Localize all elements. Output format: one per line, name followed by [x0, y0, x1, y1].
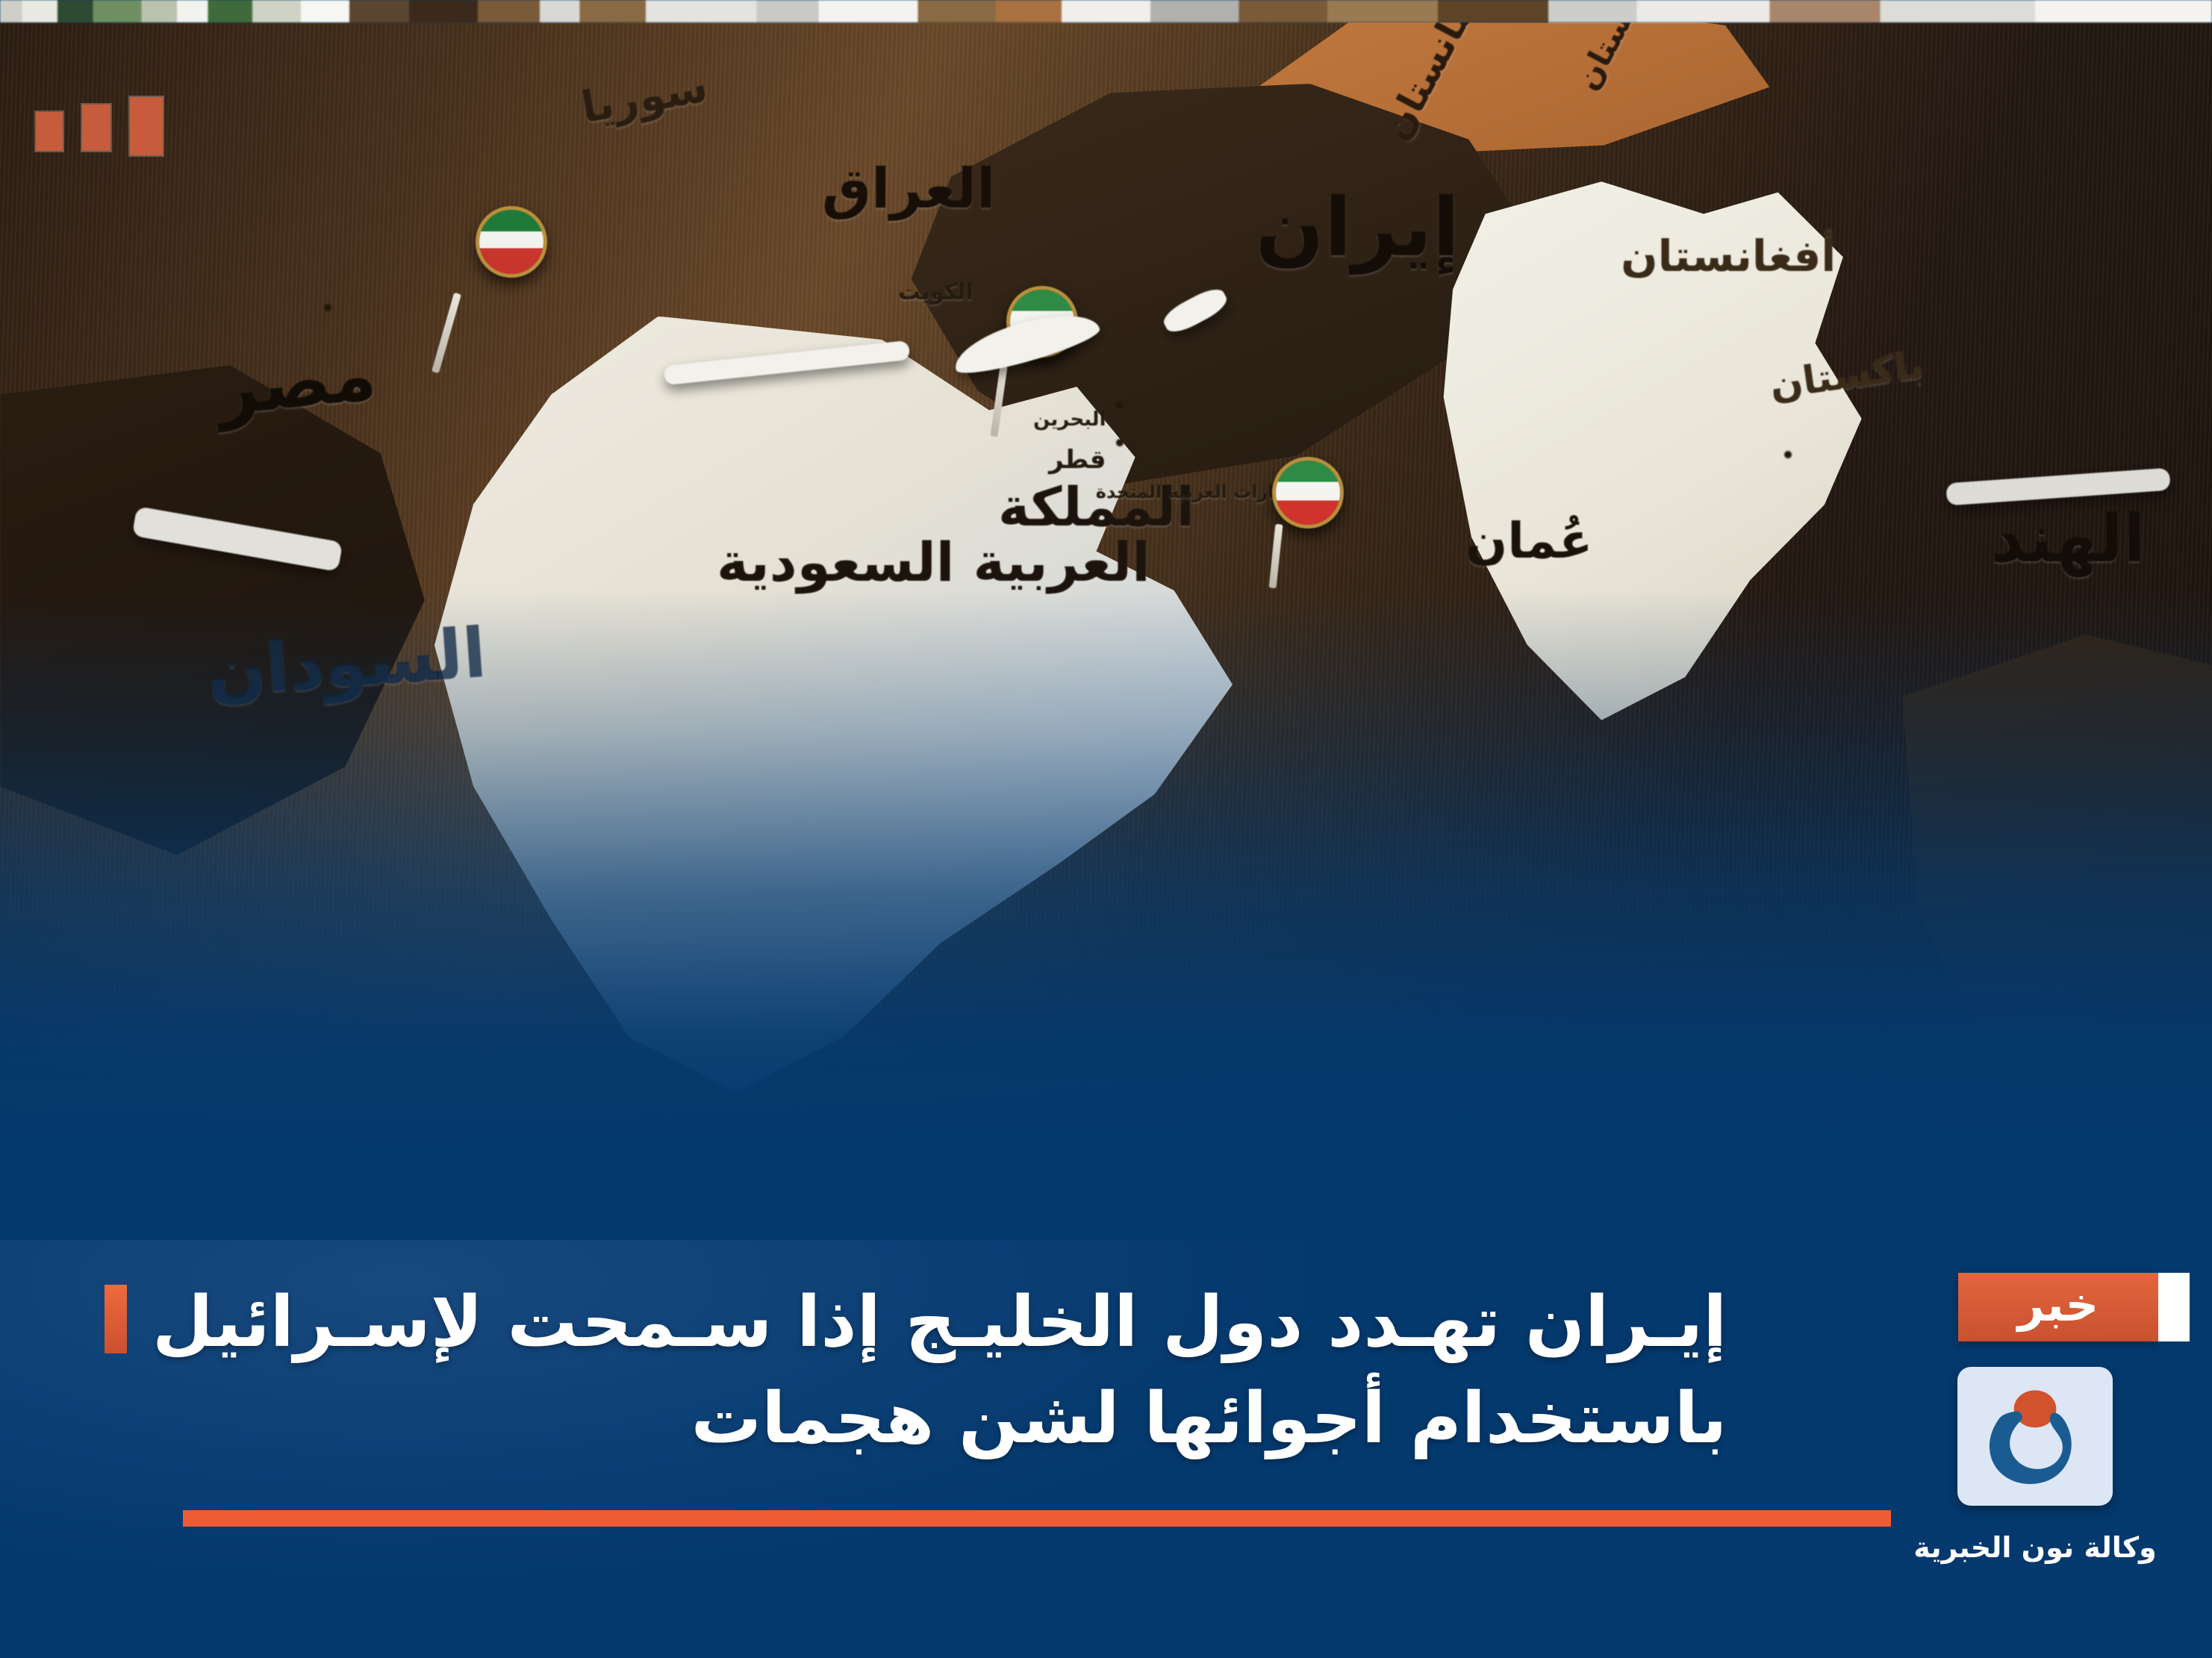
agency-logo-tile [1957, 1367, 2113, 1506]
map-label-iran: إيران [1256, 181, 1460, 275]
map-label-syria: سوريا [577, 60, 711, 133]
watermark-bars-logo [36, 97, 163, 155]
map-label-iraq: العراق [822, 157, 995, 221]
map-label-bahrain: البحرين [1033, 408, 1106, 431]
watermark-bar-short [36, 112, 63, 151]
map-label-kuwait: الكويت [898, 279, 973, 305]
headline-line-2: باستخدام أجوائها لشن هجمات [152, 1371, 1727, 1468]
pin-needle-uae [1268, 524, 1283, 589]
watermark-bar-medium [82, 105, 110, 151]
headline-block: إيـران تهـدد دول الخليـج إذا سـمحت لإسـر… [105, 1274, 1891, 1468]
city-dot-egypt [324, 304, 331, 311]
map-label-india: الهند [1990, 500, 2146, 577]
city-dot-qatar [1116, 439, 1124, 446]
headline-accent-bar [105, 1285, 127, 1353]
map-label-afghanistan: أفغانستان [1621, 231, 1836, 281]
news-category-badge: خبر [1958, 1273, 2158, 1341]
landmass-india [1902, 635, 2212, 1149]
map-label-saudi-line2: العربية السعودية [717, 531, 1150, 593]
map-label-qatar: قطر [1049, 445, 1106, 475]
flag-pin-palestine [476, 206, 547, 278]
watermark-bar-tall [130, 97, 163, 155]
map-label-oman: عُمان [1465, 512, 1592, 570]
flag-pin-uae [1272, 457, 1344, 529]
orange-divider-rule [183, 1510, 1891, 1527]
agency-name: وكالة نون الخبرية [1913, 1531, 2156, 1564]
headline-text: إيـران تهـدد دول الخليـج إذا سـمحت لإسـر… [152, 1274, 1727, 1468]
noon-letter-logo-icon [1972, 1380, 2098, 1492]
city-dot-pakistan [1784, 451, 1792, 458]
brand-column: خبر وكالة نون الخبرية [1912, 1273, 2158, 1564]
news-category-badge-label: خبر [2018, 1282, 2099, 1333]
map-label-egypt: مصر [213, 333, 380, 433]
landmass-egypt [0, 365, 443, 855]
news-card: سوريا تركمانستان أوزبكستان العراق إيران … [0, 0, 2212, 1658]
top-image-strip [0, 0, 2212, 22]
background-photo: سوريا تركمانستان أوزبكستان العراق إيران … [0, 22, 2212, 1247]
headline-line-1: إيـران تهـدد دول الخليـج إذا سـمحت لإسـر… [152, 1282, 1727, 1363]
pin-needle-palestine [432, 293, 461, 373]
